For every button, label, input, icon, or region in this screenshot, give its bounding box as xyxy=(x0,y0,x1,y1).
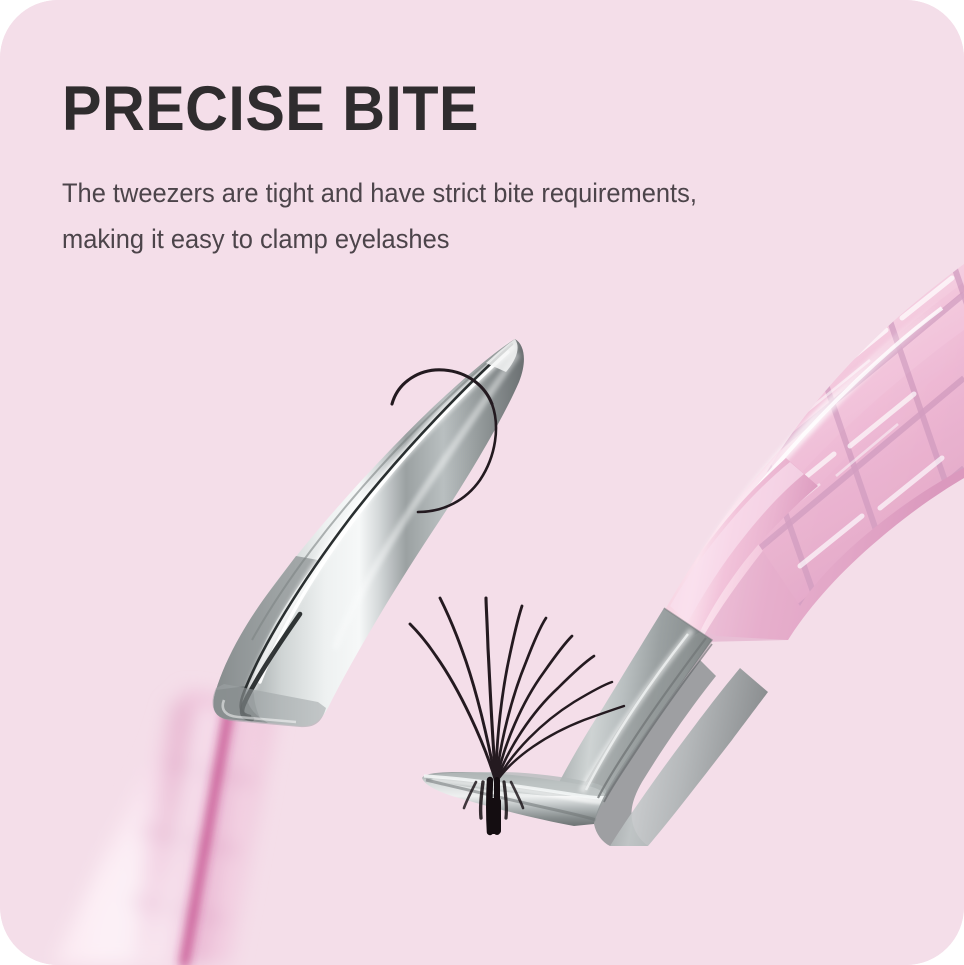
product-feature-card: PRECISE BITE The tweezers are tight and … xyxy=(0,0,964,965)
text-block: PRECISE BITE The tweezers are tight and … xyxy=(62,78,862,262)
lash-stem xyxy=(487,798,501,834)
subtitle-text: The tweezers are tight and have strict b… xyxy=(62,171,772,262)
page-title: PRECISE BITE xyxy=(62,78,814,141)
